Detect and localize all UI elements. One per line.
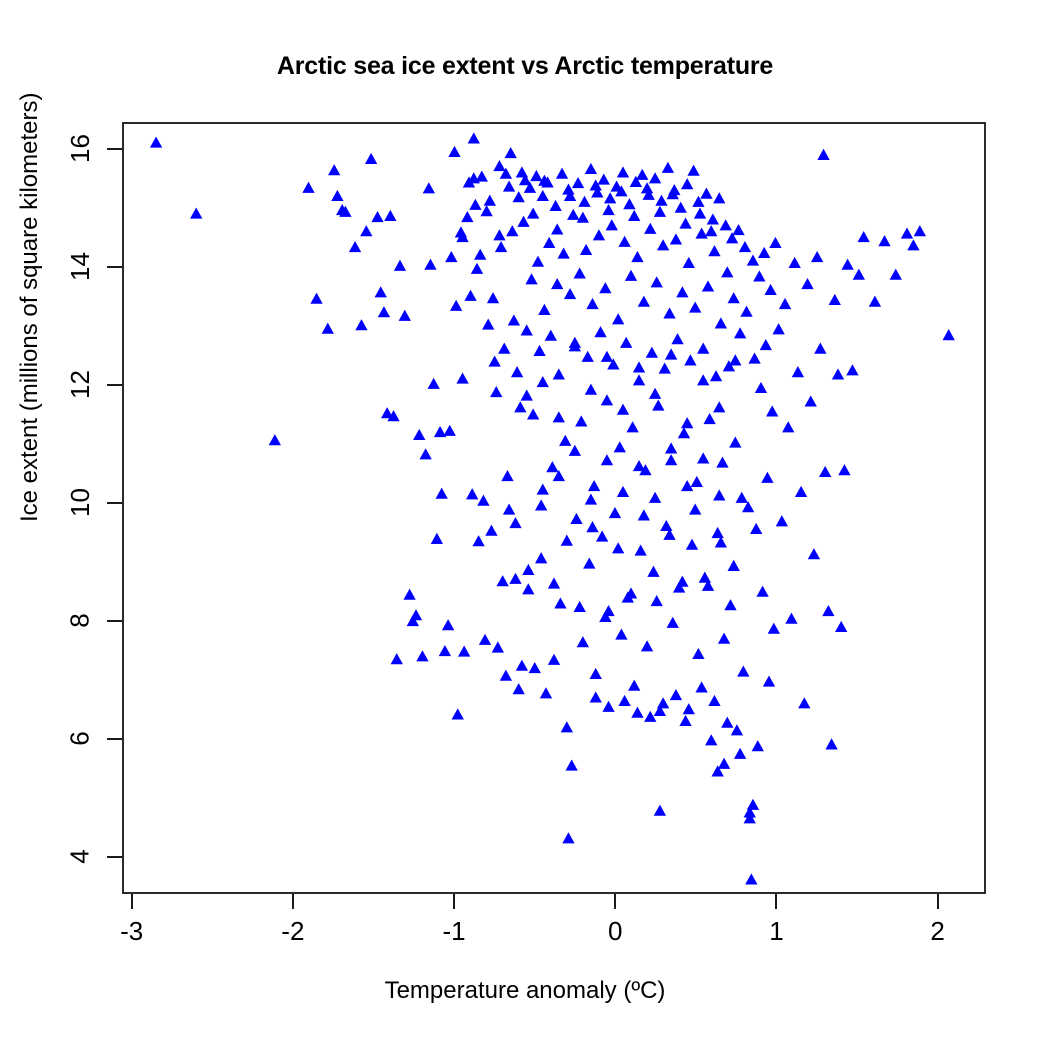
x-tick-mark	[614, 894, 616, 909]
x-tick-mark	[292, 894, 294, 909]
data-point	[527, 408, 539, 419]
data-point	[681, 417, 693, 428]
data-point	[766, 405, 778, 416]
data-point	[485, 525, 497, 536]
data-point	[689, 301, 701, 312]
data-point	[750, 523, 762, 534]
data-point	[522, 583, 534, 594]
data-point	[580, 244, 592, 255]
data-point	[391, 653, 403, 664]
data-point	[687, 165, 699, 176]
data-point	[464, 290, 476, 301]
data-point	[728, 560, 740, 571]
data-point	[720, 219, 732, 230]
data-point	[399, 310, 411, 321]
data-point	[731, 724, 743, 735]
data-point	[521, 390, 533, 401]
data-point	[612, 542, 624, 553]
data-point	[695, 681, 707, 692]
data-point	[574, 267, 586, 278]
data-point	[808, 548, 820, 559]
data-point	[472, 535, 484, 546]
data-point	[436, 488, 448, 499]
data-point	[764, 284, 776, 295]
data-point	[569, 337, 581, 348]
data-point	[713, 401, 725, 412]
data-point	[614, 441, 626, 452]
data-point	[538, 304, 550, 315]
data-point	[694, 208, 706, 219]
data-point	[598, 173, 610, 184]
data-point	[676, 286, 688, 297]
data-point	[890, 269, 902, 280]
data-point	[869, 296, 881, 307]
x-tick-label: -1	[442, 916, 465, 947]
data-point	[551, 278, 563, 289]
data-point	[618, 236, 630, 247]
data-point	[769, 237, 781, 248]
data-point	[501, 470, 513, 481]
chart-title: Arctic sea ice extent vs Arctic temperat…	[0, 52, 1050, 81]
data-point	[665, 348, 677, 359]
data-point	[814, 343, 826, 354]
data-point	[564, 288, 576, 299]
data-point	[702, 280, 714, 291]
data-point	[537, 190, 549, 201]
data-point	[533, 345, 545, 356]
data-point	[452, 708, 464, 719]
data-point	[594, 326, 606, 337]
data-point	[633, 361, 645, 372]
data-point	[618, 695, 630, 706]
data-point	[355, 319, 367, 330]
data-point	[825, 738, 837, 749]
data-point	[683, 703, 695, 714]
data-point	[540, 687, 552, 698]
data-point	[480, 205, 492, 216]
data-point	[562, 832, 574, 843]
data-point	[509, 573, 521, 584]
data-point	[585, 163, 597, 174]
data-point	[705, 225, 717, 236]
data-point	[646, 347, 658, 358]
x-axis-label: Temperature anomaly (ºC)	[0, 977, 1050, 1005]
data-point	[721, 717, 733, 728]
data-point	[805, 395, 817, 406]
data-point	[763, 675, 775, 686]
data-point	[427, 378, 439, 389]
data-point	[699, 572, 711, 583]
data-point	[602, 204, 614, 215]
x-tick-label: -3	[120, 916, 143, 947]
data-point	[705, 734, 717, 745]
data-point	[667, 617, 679, 628]
data-point	[779, 298, 791, 309]
data-point	[644, 223, 656, 234]
data-point	[633, 460, 645, 471]
data-point	[853, 269, 865, 280]
data-point	[448, 146, 460, 157]
data-point	[574, 601, 586, 612]
data-point	[628, 680, 640, 691]
data-point	[548, 654, 560, 665]
data-point	[681, 178, 693, 189]
data-point	[817, 149, 829, 160]
data-point	[551, 223, 563, 234]
data-point	[832, 368, 844, 379]
data-point	[590, 668, 602, 679]
data-point	[758, 247, 770, 258]
y-tick-mark	[107, 148, 122, 150]
data-point	[403, 589, 415, 600]
data-point	[631, 707, 643, 718]
data-point	[469, 199, 481, 210]
data-point	[811, 251, 823, 262]
data-point	[394, 260, 406, 271]
data-point	[789, 257, 801, 268]
data-point	[590, 691, 602, 702]
data-point	[659, 363, 671, 374]
data-point	[625, 270, 637, 281]
data-point	[575, 415, 587, 426]
data-point	[649, 492, 661, 503]
data-point	[740, 306, 752, 317]
data-point	[670, 689, 682, 700]
y-axis-label: Ice extent (millions of square kilometer…	[16, 93, 44, 523]
y-tick-mark	[107, 266, 122, 268]
data-point	[785, 613, 797, 624]
data-point	[269, 434, 281, 445]
data-point	[496, 575, 508, 586]
data-point	[772, 323, 784, 334]
x-tick-mark	[131, 894, 133, 909]
data-point	[736, 492, 748, 503]
data-point	[567, 209, 579, 220]
data-point	[513, 191, 525, 202]
data-point	[530, 170, 542, 181]
data-point	[513, 683, 525, 694]
data-point	[349, 241, 361, 252]
data-point	[617, 486, 629, 497]
data-point	[577, 212, 589, 223]
data-point	[718, 758, 730, 769]
data-point	[662, 162, 674, 173]
data-point	[606, 219, 618, 230]
data-point	[424, 259, 436, 270]
data-point	[535, 552, 547, 563]
data-point	[657, 239, 669, 250]
data-point	[638, 509, 650, 520]
data-point	[651, 595, 663, 606]
data-point	[498, 343, 510, 354]
data-point	[503, 503, 515, 514]
data-point	[588, 480, 600, 491]
data-point	[416, 650, 428, 661]
data-point	[360, 225, 372, 236]
plot-area	[122, 122, 986, 894]
data-point	[488, 355, 500, 366]
data-point	[647, 566, 659, 577]
data-point	[554, 597, 566, 608]
y-tick-label: 8	[60, 605, 100, 636]
y-tick-mark	[107, 502, 122, 504]
data-point	[537, 376, 549, 387]
data-point	[302, 182, 314, 193]
data-point	[444, 425, 456, 436]
x-tick-label: 1	[769, 916, 783, 947]
data-point	[578, 196, 590, 207]
data-point	[625, 587, 637, 598]
data-point	[602, 701, 614, 712]
data-point	[634, 545, 646, 556]
x-tick-label: 2	[930, 916, 944, 947]
x-tick-label: -2	[281, 916, 304, 947]
data-point	[487, 292, 499, 303]
data-point	[697, 374, 709, 385]
data-point	[654, 805, 666, 816]
data-point	[651, 276, 663, 287]
data-point	[537, 483, 549, 494]
data-point	[477, 495, 489, 506]
scatter-points-layer	[124, 124, 984, 892]
data-point	[522, 564, 534, 575]
data-point	[829, 294, 841, 305]
data-point	[548, 577, 560, 588]
scatter-plot-figure: Arctic sea ice extent vs Arctic temperat…	[0, 0, 1050, 1050]
data-point	[495, 241, 507, 252]
data-point	[468, 132, 480, 143]
data-point	[505, 147, 517, 158]
data-point	[846, 364, 858, 375]
data-point	[737, 665, 749, 676]
data-point	[901, 227, 913, 238]
data-point	[663, 307, 675, 318]
x-tick-label: 0	[608, 916, 622, 947]
data-point	[835, 621, 847, 632]
data-point	[190, 208, 202, 219]
data-point	[577, 636, 589, 647]
data-point	[601, 394, 613, 405]
data-point	[371, 211, 383, 222]
data-point	[707, 213, 719, 224]
data-point	[744, 812, 756, 823]
data-point	[569, 445, 581, 456]
data-point	[570, 513, 582, 524]
data-point	[747, 254, 759, 265]
data-point	[492, 641, 504, 652]
data-point	[503, 181, 515, 192]
y-tick-mark	[107, 856, 122, 858]
data-point	[484, 195, 496, 206]
data-point	[697, 343, 709, 354]
x-tick-mark	[453, 894, 455, 909]
data-point	[721, 266, 733, 277]
data-point	[586, 521, 598, 532]
data-point	[521, 324, 533, 335]
data-point	[514, 401, 526, 412]
y-tick-label: 4	[60, 841, 100, 872]
data-point	[679, 715, 691, 726]
data-point	[676, 576, 688, 587]
data-point	[753, 270, 765, 281]
data-point	[795, 486, 807, 497]
data-point	[683, 257, 695, 268]
data-point	[636, 169, 648, 180]
data-point	[532, 256, 544, 267]
data-point	[641, 640, 653, 651]
data-point	[508, 314, 520, 325]
data-point	[561, 535, 573, 546]
data-point	[633, 374, 645, 385]
data-point	[450, 300, 462, 311]
data-point	[458, 646, 470, 657]
data-point	[801, 278, 813, 289]
data-point	[572, 177, 584, 188]
data-point	[599, 282, 611, 293]
data-point	[728, 292, 740, 303]
y-tick-mark	[107, 738, 122, 740]
data-point	[943, 329, 955, 340]
y-tick-label: 12	[60, 369, 100, 400]
data-point	[585, 493, 597, 504]
data-point	[557, 247, 569, 258]
data-point	[482, 318, 494, 329]
data-point	[644, 711, 656, 722]
data-point	[716, 456, 728, 467]
data-point	[638, 296, 650, 307]
data-point	[490, 386, 502, 397]
data-point	[384, 210, 396, 221]
data-point	[732, 224, 744, 235]
data-point	[782, 421, 794, 432]
data-point	[310, 293, 322, 304]
data-point	[561, 721, 573, 732]
data-point	[617, 166, 629, 177]
data-point	[657, 697, 669, 708]
data-point	[365, 153, 377, 164]
data-point	[546, 461, 558, 472]
data-point	[907, 239, 919, 250]
data-point	[516, 660, 528, 671]
x-tick-mark	[775, 894, 777, 909]
x-tick-mark	[937, 894, 939, 909]
data-point	[914, 225, 926, 236]
data-point	[479, 634, 491, 645]
data-point	[711, 527, 723, 538]
data-point	[695, 227, 707, 238]
data-point	[612, 313, 624, 324]
data-point	[559, 435, 571, 446]
data-point	[703, 413, 715, 424]
data-point	[322, 323, 334, 334]
data-point	[718, 633, 730, 644]
data-point	[841, 259, 853, 270]
y-tick-mark	[107, 384, 122, 386]
data-point	[729, 437, 741, 448]
data-point	[649, 172, 661, 183]
data-point	[700, 188, 712, 199]
data-point	[660, 520, 672, 531]
data-point	[375, 286, 387, 297]
data-point	[724, 599, 736, 610]
data-point	[378, 306, 390, 317]
data-point	[466, 488, 478, 499]
data-point	[631, 251, 643, 262]
data-point	[565, 759, 577, 770]
data-point	[654, 206, 666, 217]
data-point	[506, 225, 518, 236]
data-point	[708, 245, 720, 256]
data-point	[623, 198, 635, 209]
data-point	[760, 339, 772, 350]
data-point	[665, 454, 677, 465]
data-point	[516, 166, 528, 177]
data-point	[649, 388, 661, 399]
data-point	[745, 873, 757, 884]
data-point	[776, 515, 788, 526]
data-point	[535, 499, 547, 510]
data-point	[878, 235, 890, 246]
data-point	[652, 400, 664, 411]
data-point	[857, 231, 869, 242]
data-point	[697, 452, 709, 463]
data-point	[493, 229, 505, 240]
data-point	[604, 192, 616, 203]
data-point	[713, 192, 725, 203]
data-point	[768, 623, 780, 634]
data-point	[665, 442, 677, 453]
data-point	[439, 645, 451, 656]
data-point	[617, 404, 629, 415]
y-tick-label: 14	[60, 251, 100, 282]
data-point	[689, 503, 701, 514]
data-point	[545, 330, 557, 341]
data-point	[838, 464, 850, 475]
data-point	[734, 327, 746, 338]
data-point	[819, 466, 831, 477]
data-point	[655, 195, 667, 206]
data-point	[755, 382, 767, 393]
data-point	[609, 507, 621, 518]
y-tick-label: 10	[60, 487, 100, 518]
data-point	[553, 368, 565, 379]
data-point	[748, 353, 760, 364]
data-point	[328, 164, 340, 175]
data-point	[670, 233, 682, 244]
data-point	[747, 799, 759, 810]
data-point	[543, 237, 555, 248]
data-point	[442, 619, 454, 630]
data-point	[628, 210, 640, 221]
data-point	[761, 472, 773, 483]
data-point	[527, 208, 539, 219]
data-point	[474, 249, 486, 260]
data-point	[582, 351, 594, 362]
data-point	[641, 182, 653, 193]
data-point	[756, 586, 768, 597]
data-point	[822, 605, 834, 616]
data-point	[792, 366, 804, 377]
data-point	[431, 533, 443, 544]
data-point	[585, 384, 597, 395]
y-tick-label: 16	[60, 133, 100, 164]
data-point	[413, 429, 425, 440]
data-point	[471, 263, 483, 274]
data-point	[675, 202, 687, 213]
data-point	[679, 217, 691, 228]
data-point	[150, 136, 162, 147]
y-tick-label: 6	[60, 723, 100, 754]
